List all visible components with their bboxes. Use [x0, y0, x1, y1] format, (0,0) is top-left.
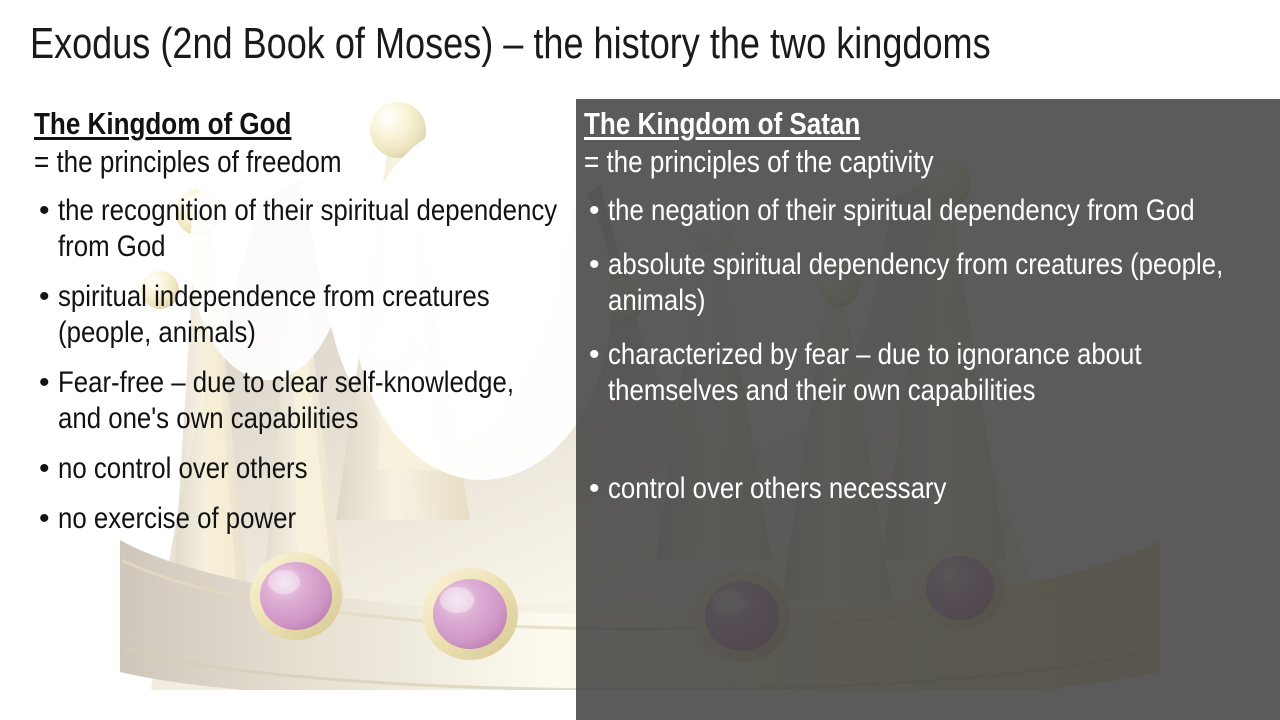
bullet-icon: •: [39, 279, 50, 315]
bullet-icon: •: [39, 451, 50, 487]
bullet-icon: •: [589, 337, 600, 373]
bullet-icon: •: [39, 501, 50, 537]
slide-canvas: Exodus (2nd Book of Moses) – the history…: [0, 0, 1280, 720]
left-column-subheading: = the principles of freedom: [34, 143, 479, 181]
list-spacer: [584, 427, 1274, 453]
list-item: • no exercise of power: [34, 501, 564, 537]
right-column-subheading: = the principles of the captivity: [584, 143, 1164, 181]
left-column-heading: The Kingdom of God: [34, 105, 479, 143]
list-item-label: absolute spiritual dependency from creat…: [608, 247, 1272, 319]
list-item-label: the recognition of their spiritual depen…: [58, 193, 563, 265]
bullet-icon: •: [589, 193, 600, 229]
list-item: • characterized by fear – due to ignoran…: [584, 337, 1274, 409]
list-item: • the negation of their spiritual depend…: [584, 193, 1274, 229]
list-item-label: characterized by fear – due to ignorance…: [608, 337, 1272, 409]
bullet-icon: •: [589, 247, 600, 283]
list-item-label: no control over others: [58, 451, 563, 487]
list-item: • control over others necessary: [584, 471, 1274, 507]
list-item: • the recognition of their spiritual dep…: [34, 193, 564, 265]
list-item-label: the negation of their spiritual dependen…: [608, 193, 1272, 229]
list-item: • spiritual independence from creatures …: [34, 279, 564, 351]
bullet-icon: •: [39, 365, 50, 401]
left-column-bullet-list: • the recognition of their spiritual dep…: [34, 193, 564, 537]
right-column-heading: The Kingdom of Satan: [584, 105, 1164, 143]
list-item-label: no exercise of power: [58, 501, 563, 537]
list-item: • absolute spiritual dependency from cre…: [584, 247, 1274, 319]
bullet-icon: •: [589, 471, 600, 507]
list-item-label: Fear-free – due to clear self-knowledge,…: [58, 365, 563, 437]
bullet-icon: •: [39, 193, 50, 229]
right-column-kingdom-of-satan: The Kingdom of Satan = the principles of…: [584, 105, 1274, 525]
list-item-label: control over others necessary: [608, 471, 1272, 507]
list-item-label: spiritual independence from creatures (p…: [58, 279, 563, 351]
left-column-kingdom-of-god: The Kingdom of God = the principles of f…: [34, 105, 564, 551]
list-item: • no control over others: [34, 451, 564, 487]
jewel: [250, 552, 342, 640]
list-item: • Fear-free – due to clear self-knowledg…: [34, 365, 564, 437]
right-column-bullet-list: • the negation of their spiritual depend…: [584, 193, 1274, 507]
page-title: Exodus (2nd Book of Moses) – the history…: [30, 18, 1030, 70]
jewel: [422, 568, 518, 660]
